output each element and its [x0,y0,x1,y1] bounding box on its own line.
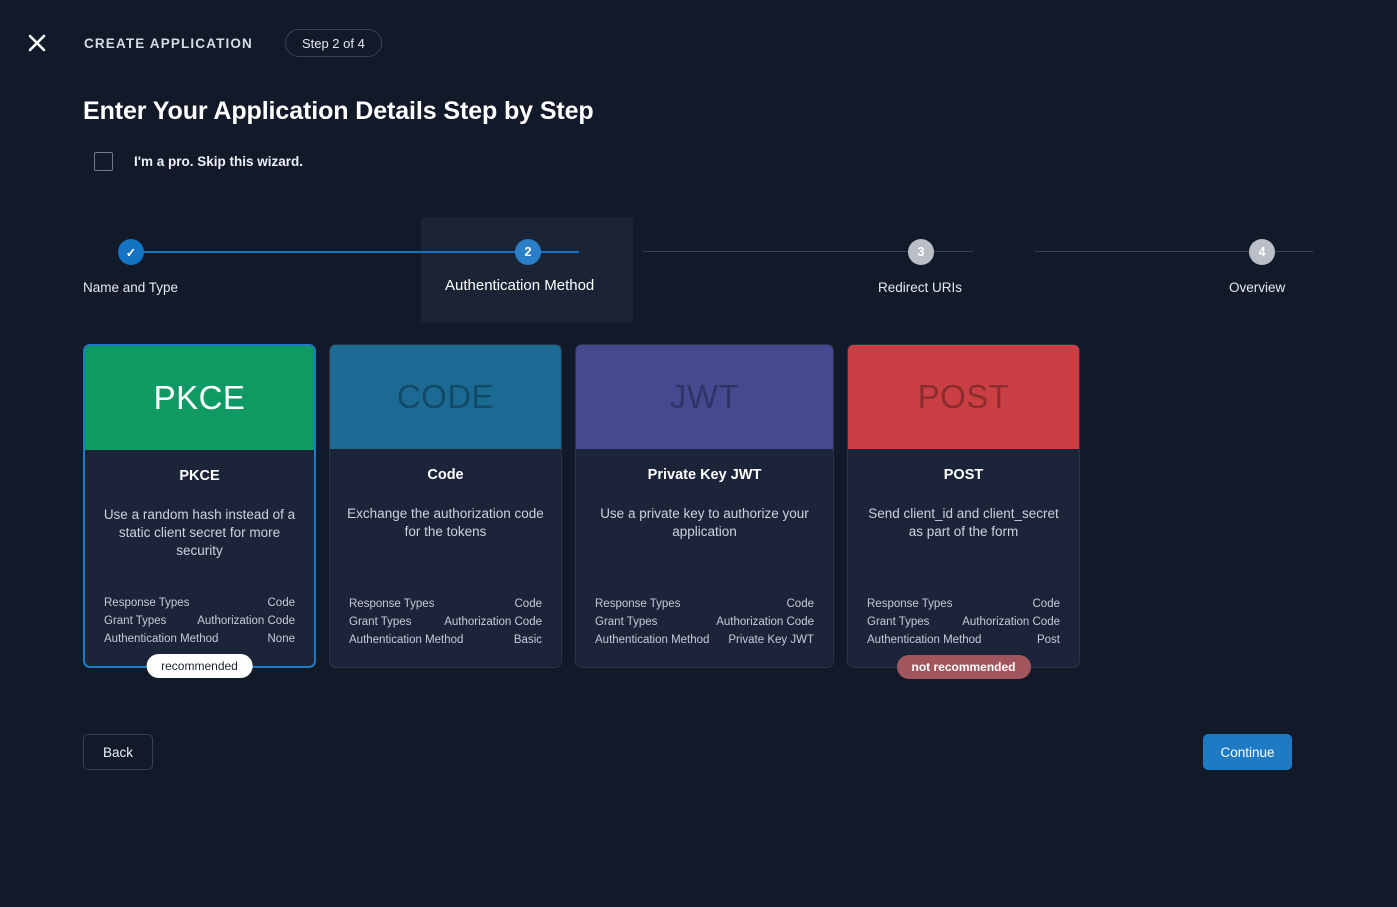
card-detail-value: Authorization Code [962,613,1060,631]
card-detail-value: Code [787,595,815,613]
card-body-code: Code Exchange the authorization code for… [330,449,561,667]
auth-method-card-private-key-jwt[interactable]: JWT Private Key JWT Use a private key to… [575,344,834,668]
card-detail-row: Response Types Code [592,595,817,613]
card-detail-row: Grant Types Authorization Code [101,612,298,630]
card-detail-key: Response Types [104,594,189,612]
stepper-node-4-marker: 4 [1259,245,1266,259]
card-detail-key: Authentication Method [349,631,463,649]
stepper-label-redirect-uris[interactable]: Redirect URIs [878,280,962,295]
card-description: Send client_id and client_secret as part… [864,505,1063,541]
card-detail-key: Response Types [595,595,680,613]
wizard-stepper: ✓ 2 3 4 Name and Type Authentication Met… [83,217,1313,323]
card-detail-value: Authorization Code [444,613,542,631]
card-detail-row: Authentication Method Post [864,631,1063,649]
auth-method-card-pkce[interactable]: PKCE PKCE Use a random hash instead of a… [83,344,316,668]
card-detail-row: Authentication Method None [101,630,298,648]
breadcrumb: CREATE APPLICATION [84,36,253,51]
card-detail-key: Grant Types [595,613,657,631]
card-description: Use a private key to authorize your appl… [592,505,817,541]
card-title: Code [346,467,545,483]
card-title: PKCE [101,468,298,484]
card-title: Private Key JWT [592,467,817,483]
card-detail-key: Authentication Method [595,631,709,649]
card-detail-key: Grant Types [867,613,929,631]
card-title: POST [864,467,1063,483]
stepper-node-4[interactable]: 4 [1249,239,1275,265]
skip-wizard-label: I'm a pro. Skip this wizard. [134,154,303,169]
auth-method-card-code[interactable]: CODE Code Exchange the authorization cod… [329,344,562,668]
card-banner-label: POST [918,378,1010,416]
stepper-node-1-marker: ✓ [126,245,136,260]
card-detail-value: Code [515,595,543,613]
auth-method-card-post[interactable]: POST POST Send client_id and client_secr… [847,344,1080,668]
card-body-post: POST Send client_id and client_secret as… [848,449,1079,667]
stepper-node-1[interactable]: ✓ [118,239,144,265]
card-body-jwt: Private Key JWT Use a private key to aut… [576,449,833,667]
card-detail-row: Authentication Method Private Key JWT [592,631,817,649]
card-detail-row: Grant Types Authorization Code [592,613,817,631]
top-bar: CREATE APPLICATION Step 2 of 4 [0,0,1397,86]
card-detail-row: Response Types Code [864,595,1063,613]
card-description: Exchange the authorization code for the … [346,505,545,541]
card-banner-label: PKCE [154,379,246,417]
card-detail-value: Authorization Code [716,613,814,631]
auth-method-card-list: PKCE PKCE Use a random hash instead of a… [83,344,1080,668]
card-detail-row: Grant Types Authorization Code [346,613,545,631]
card-detail-key: Authentication Method [104,630,218,648]
card-detail-row: Authentication Method Basic [346,631,545,649]
card-detail-row: Response Types Code [346,595,545,613]
stepper-node-3-marker: 3 [918,245,925,259]
page-title: Enter Your Application Details Step by S… [83,97,594,126]
card-banner-post: POST [848,345,1079,449]
step-counter-badge: Step 2 of 4 [285,29,382,57]
card-banner-pkce: PKCE [85,346,314,450]
stepper-label-authentication-method[interactable]: Authentication Method [445,277,594,294]
card-detail-value: None [268,630,296,648]
card-detail-key: Grant Types [349,613,411,631]
close-icon[interactable] [22,28,52,58]
card-detail-value: Code [1033,595,1061,613]
create-application-wizard: CREATE APPLICATION Step 2 of 4 Enter You… [0,0,1397,907]
card-detail-value: Post [1037,631,1060,649]
card-spacer [864,557,1063,595]
stepper-label-overview[interactable]: Overview [1229,280,1285,295]
stepper-node-2-marker: 2 [525,245,532,259]
card-spacer [101,576,298,594]
card-detail-row: Response Types Code [101,594,298,612]
card-detail-value: Basic [514,631,542,649]
stepper-node-2[interactable]: 2 [515,239,541,265]
card-banner-code: CODE [330,345,561,449]
continue-button[interactable]: Continue [1203,734,1292,770]
card-detail-value: Code [268,594,296,612]
stepper-label-name-and-type[interactable]: Name and Type [83,280,178,295]
card-spacer [346,557,545,595]
card-spacer [592,557,817,595]
card-banner-jwt: JWT [576,345,833,449]
checkbox-box[interactable] [94,152,113,171]
card-body-pkce: PKCE Use a random hash instead of a stat… [85,450,314,666]
card-detail-key: Grant Types [104,612,166,630]
back-button[interactable]: Back [83,734,153,770]
stepper-connector-1 [131,251,579,253]
card-banner-label: CODE [397,378,494,416]
card-detail-value: Private Key JWT [728,631,814,649]
card-detail-key: Response Types [349,595,434,613]
card-badge-not-recommended: not recommended [896,655,1030,679]
active-step-highlight [421,217,633,323]
card-detail-row: Grant Types Authorization Code [864,613,1063,631]
card-detail-value: Authorization Code [197,612,295,630]
card-detail-key: Response Types [867,595,952,613]
stepper-node-3[interactable]: 3 [908,239,934,265]
card-banner-label: JWT [670,378,739,416]
card-description: Use a random hash instead of a static cl… [101,506,298,560]
card-badge-recommended: recommended [146,654,253,678]
card-detail-key: Authentication Method [867,631,981,649]
skip-wizard-checkbox[interactable]: I'm a pro. Skip this wizard. [94,152,303,171]
